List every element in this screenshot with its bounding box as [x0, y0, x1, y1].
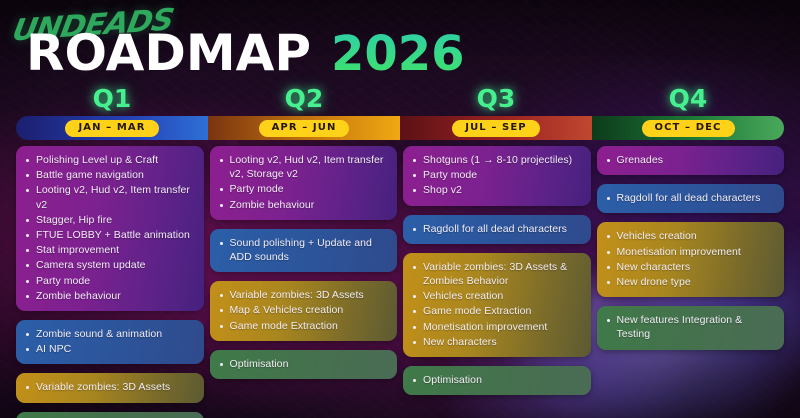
list-item: Vehicles creation — [606, 229, 775, 243]
month-range-pill-q2: APR – JUN — [259, 120, 350, 137]
list-item: Grenades — [606, 153, 775, 167]
milestone-list: Ragdoll for all dead characters — [412, 222, 581, 236]
list-item: Ragdoll for all dead characters — [412, 222, 581, 236]
milestone-list: Optimisation — [219, 357, 388, 371]
list-item: New characters — [606, 260, 775, 274]
milestone-card: Variable zombies: 3D Assets & Zombies Be… — [403, 253, 591, 357]
list-item: Polishing Level up & Craft — [25, 153, 194, 167]
milestone-card: Optimisation & Bug Fixing — [16, 412, 204, 418]
milestone-card: New features Integration & Testing — [597, 306, 785, 349]
list-item: Shop v2 — [412, 183, 581, 197]
list-item: Looting v2, Hud v2, Item transfer v2 — [25, 183, 194, 211]
list-item: New features Integration & Testing — [606, 313, 775, 341]
quarter-columns: Polishing Level up & CraftBattle game na… — [16, 146, 784, 418]
list-item: Variable zombies: 3D Assets & Zombies Be… — [412, 260, 581, 288]
milestone-card: Variable zombies: 3D AssetsMap & Vehicle… — [210, 281, 398, 341]
list-item: FTUE LOBBY + Battle animation — [25, 228, 194, 242]
quarter-column-q2: Looting v2, Hud v2, Item transfer v2, St… — [210, 146, 398, 418]
list-item: Zombie sound & animation — [25, 327, 194, 341]
list-item: Battle game navigation — [25, 168, 194, 182]
list-item: Looting v2, Hud v2, Item transfer v2, St… — [219, 153, 388, 181]
milestone-list: Variable zombies: 3D Assets & Zombies Be… — [412, 260, 581, 349]
quarter-label-q2: Q2 — [208, 86, 400, 111]
list-item: Vehicles creation — [412, 289, 581, 303]
month-range-pill-q1: JAN – MAR — [65, 120, 158, 137]
milestone-list: Optimisation — [412, 373, 581, 387]
quarter-label-q4: Q4 — [592, 86, 784, 111]
milestone-list: Sound polishing + Update and ADD sounds — [219, 236, 388, 264]
list-item: Stagger, Hip fire — [25, 213, 194, 227]
list-item: Map & Vehicles creation — [219, 303, 388, 317]
milestone-card: Optimisation — [210, 350, 398, 379]
list-item: Party mode — [25, 274, 194, 288]
list-item: Optimisation — [219, 357, 388, 371]
month-range-pill-q3: JUL – SEP — [452, 120, 539, 137]
list-item: Party mode — [412, 168, 581, 182]
list-item: Sound polishing + Update and ADD sounds — [219, 236, 388, 264]
list-item: Party mode — [219, 182, 388, 196]
quarter-label-row: Q1Q2Q3Q4 — [16, 86, 784, 111]
timeline-segment-q3: JUL – SEP — [400, 116, 592, 140]
milestone-list: New features Integration & Testing — [606, 313, 775, 341]
milestone-list: Variable zombies: 3D Assets — [25, 380, 194, 394]
quarter-column-q3: Shotguns (1 → 8-10 projectiles)Party mod… — [403, 146, 591, 418]
milestone-card: Zombie sound & animationAI NPC — [16, 320, 204, 364]
milestone-card: Shotguns (1 → 8-10 projectiles)Party mod… — [403, 146, 591, 206]
milestone-card: Sound polishing + Update and ADD sounds — [210, 229, 398, 272]
quarter-label-q1: Q1 — [16, 86, 208, 111]
quarter-column-q4: GrenadesRagdoll for all dead charactersV… — [597, 146, 785, 418]
milestone-card: Variable zombies: 3D Assets — [16, 373, 204, 402]
milestone-list: Polishing Level up & CraftBattle game na… — [25, 153, 194, 303]
timeline-segment-q4: OCT – DEC — [592, 116, 784, 140]
milestone-list: Ragdoll for all dead characters — [606, 191, 775, 205]
timeline-segment-q1: JAN – MAR — [16, 116, 208, 140]
milestone-list: Vehicles creationMonetisation improvemen… — [606, 229, 775, 289]
page-title: ROADMAP 2026 — [26, 28, 465, 78]
milestone-list: Looting v2, Hud v2, Item transfer v2, St… — [219, 153, 388, 212]
title-roadmap: ROADMAP — [26, 28, 311, 78]
list-item: Shotguns (1 → 8-10 projectiles) — [412, 153, 581, 167]
list-item: AI NPC — [25, 342, 194, 356]
list-item: Variable zombies: 3D Assets — [25, 380, 194, 394]
title-year: 2026 — [331, 30, 465, 78]
milestone-card: Ragdoll for all dead characters — [403, 215, 591, 244]
list-item: Ragdoll for all dead characters — [606, 191, 775, 205]
milestone-card: Optimisation — [403, 366, 591, 395]
list-item: Monetisation improvement — [606, 245, 775, 259]
milestone-card: Ragdoll for all dead characters — [597, 184, 785, 213]
milestone-list: Variable zombies: 3D AssetsMap & Vehicle… — [219, 288, 388, 333]
milestone-list: Shotguns (1 → 8-10 projectiles)Party mod… — [412, 153, 581, 198]
list-item: Zombie behaviour — [25, 289, 194, 303]
milestone-card: Looting v2, Hud v2, Item transfer v2, St… — [210, 146, 398, 220]
list-item: Game mode Extraction — [412, 304, 581, 318]
list-item: New characters — [412, 335, 581, 349]
milestone-card: Polishing Level up & CraftBattle game na… — [16, 146, 204, 311]
list-item: Stat improvement — [25, 243, 194, 257]
list-item: Monetisation improvement — [412, 320, 581, 334]
list-item: Game mode Extraction — [219, 319, 388, 333]
quarter-label-q3: Q3 — [400, 86, 592, 111]
list-item: New drone type — [606, 275, 775, 289]
month-range-pill-q4: OCT – DEC — [642, 120, 735, 137]
timeline-segment-q2: APR – JUN — [208, 116, 400, 140]
milestone-card: Vehicles creationMonetisation improvemen… — [597, 222, 785, 297]
list-item: Variable zombies: 3D Assets — [219, 288, 388, 302]
list-item: Zombie behaviour — [219, 198, 388, 212]
milestone-card: Grenades — [597, 146, 785, 175]
list-item: Optimisation — [412, 373, 581, 387]
roadmap-poster: UNDEADS ROADMAP 2026 Q1Q2Q3Q4 JAN – MARA… — [0, 0, 800, 418]
list-item: Camera system update — [25, 258, 194, 272]
timeline-bar: JAN – MARAPR – JUNJUL – SEPOCT – DEC — [16, 116, 784, 140]
quarter-column-q1: Polishing Level up & CraftBattle game na… — [16, 146, 204, 418]
milestone-list: Zombie sound & animationAI NPC — [25, 327, 194, 356]
milestone-list: Grenades — [606, 153, 775, 167]
